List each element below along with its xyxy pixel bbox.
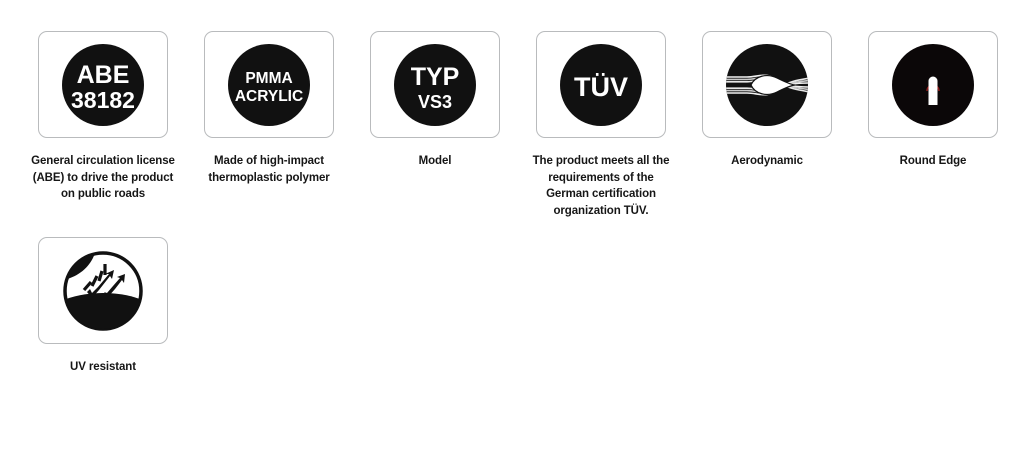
uv-resistant-sun-icon [61, 249, 145, 333]
feature-caption-uv-resistant: UV resistant [30, 359, 176, 376]
feature-item-round-edge: Round Edge [868, 31, 998, 170]
badge-card-pmma: PMMA ACRYLIC [204, 31, 334, 138]
badge-card-abe: ABE 38182 [38, 31, 168, 138]
model-badge-line2: VS3 [418, 92, 452, 112]
pmma-acrylic-material-badge-icon: PMMA ACRYLIC [227, 43, 311, 127]
feature-badge-grid: ABE 38182 General circulation license (A… [0, 0, 1024, 394]
feature-caption-aerodynamic: Aerodynamic [694, 153, 840, 170]
feature-item-aerodynamic: Aerodynamic [702, 31, 832, 170]
round-edge-icon [891, 43, 975, 127]
model-type-badge-icon: TYP VS3 [393, 43, 477, 127]
tuv-badge-line1: TÜV [574, 72, 628, 102]
badge-card-model: TYP VS3 [370, 31, 500, 138]
tuv-certification-badge-icon: TÜV [559, 43, 643, 127]
pmma-badge-line2: ACRYLIC [235, 88, 303, 105]
feature-caption-model: Model [362, 153, 508, 170]
feature-item-uv-resistant: UV resistant [38, 237, 168, 376]
aerodynamic-airflow-icon [725, 43, 809, 127]
feature-item-model: TYP VS3 Model [370, 31, 500, 170]
feature-caption-tuv: The product meets all the requirements o… [528, 153, 674, 219]
badge-card-aerodynamic [702, 31, 832, 138]
model-badge-line1: TYP [411, 63, 460, 91]
feature-caption-round-edge: Round Edge [860, 153, 1006, 170]
feature-item-tuv: TÜV The product meets all the requiremen… [536, 31, 666, 219]
badge-card-round-edge [868, 31, 998, 138]
abe-approval-badge-icon: ABE 38182 [61, 43, 145, 127]
feature-caption-pmma: Made of high-impact thermoplastic polyme… [196, 153, 342, 186]
pmma-badge-line1: PMMA [245, 70, 292, 87]
feature-caption-abe: General circulation license (ABE) to dri… [30, 153, 176, 203]
badge-card-tuv: TÜV [536, 31, 666, 138]
badge-card-uv-resistant [38, 237, 168, 344]
abe-badge-line2: 38182 [71, 87, 135, 113]
abe-badge-line1: ABE [77, 61, 130, 89]
feature-item-pmma: PMMA ACRYLIC Made of high-impact thermop… [204, 31, 334, 186]
feature-item-abe: ABE 38182 General circulation license (A… [38, 31, 168, 203]
